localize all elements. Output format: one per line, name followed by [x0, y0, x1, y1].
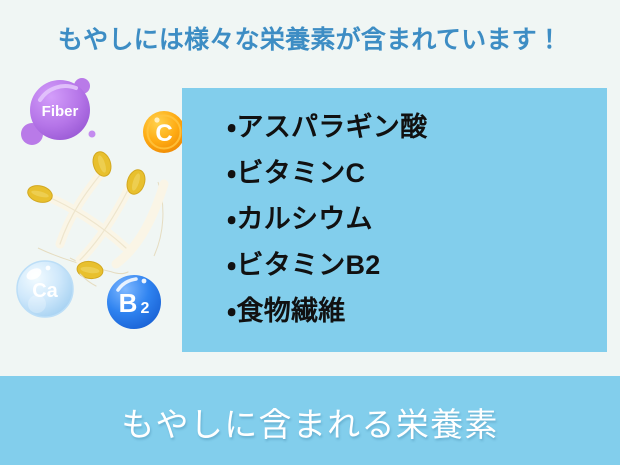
list-item: ・ビタミンC	[227, 150, 427, 196]
page-title: もやしには様々な栄養素が含まれています！	[0, 20, 620, 56]
list-item: ・ビタミンB2	[227, 242, 427, 288]
list-item: ・食物繊維	[227, 288, 427, 334]
banner-caption: もやしに含まれる栄養素	[0, 398, 620, 446]
vitamin-b2-icon: B 2	[98, 266, 170, 343]
list-item: ・カルシウム	[227, 196, 427, 242]
list-item-label: ビタミンB2	[236, 250, 380, 280]
list-item-label: アスパラギン酸	[236, 112, 427, 142]
list-item-label: ビタミンC	[236, 158, 365, 188]
vitamin-b2-label-main: B	[119, 288, 138, 318]
nutrients-panel: ・アスパラギン酸 ・ビタミンC ・カルシウム ・ビタミンB2 ・食物繊維	[182, 88, 607, 352]
nutrient-list: ・アスパラギン酸 ・ビタミンC ・カルシウム ・ビタミンB2 ・食物繊維	[227, 104, 427, 334]
fiber-bubble-icon: Fiber	[12, 74, 122, 159]
calcium-label: Ca	[32, 280, 58, 302]
bottom-banner: もやしに含まれる栄養素	[0, 376, 620, 465]
calcium-bubble-icon: Ca	[8, 252, 82, 331]
slide-canvas: もやしには様々な栄養素が含まれています！	[0, 0, 620, 465]
list-item-label: カルシウム	[236, 204, 372, 234]
list-item: ・アスパラギン酸	[227, 104, 427, 150]
fiber-bubble-label: Fiber	[42, 103, 79, 120]
vitamin-b2-label-sub: 2	[141, 300, 150, 317]
vitamin-c-label: C	[155, 120, 172, 147]
list-item-label: 食物繊維	[236, 296, 345, 326]
bean-sprouts-illustration	[8, 148, 180, 293]
